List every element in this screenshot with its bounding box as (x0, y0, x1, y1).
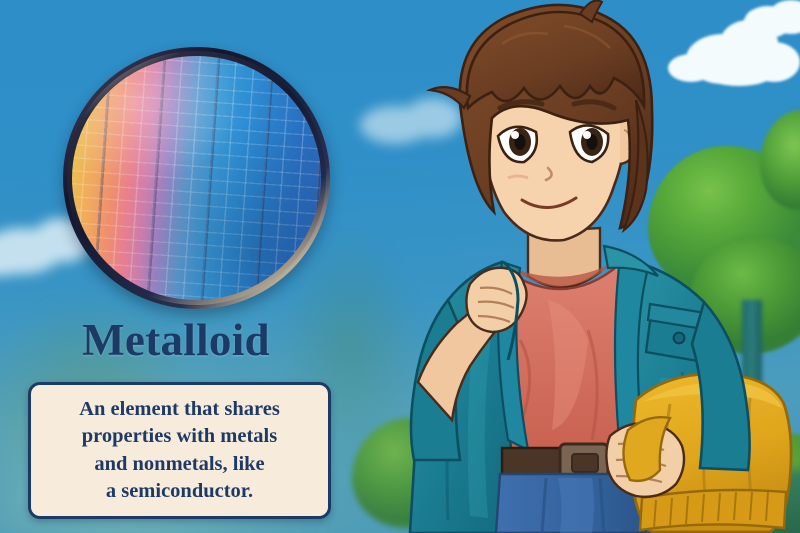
jeans-highlight (558, 478, 594, 533)
silicon-wafer-illustration (54, 38, 339, 318)
definition-text: An element that shares properties with m… (73, 396, 286, 505)
jacket-pocket-button (674, 333, 685, 344)
definition-box: An element that shares properties with m… (28, 382, 331, 519)
vocabulary-card: Metalloid An element that shares propert… (0, 0, 800, 533)
page-title: Metalloid (20, 318, 332, 363)
wafer-die-grid (64, 48, 329, 309)
sweater-ribbed-hem (640, 490, 786, 530)
anime-character-illustration (352, 0, 800, 533)
definition-line-2: properties with metals (79, 423, 280, 450)
definition-line-3: and nonmetals, like (79, 451, 280, 478)
definition-line-4: a semiconductor. (79, 478, 280, 505)
definition-line-1: An element that shares (79, 396, 280, 423)
belt-buckle-inner (572, 454, 598, 472)
